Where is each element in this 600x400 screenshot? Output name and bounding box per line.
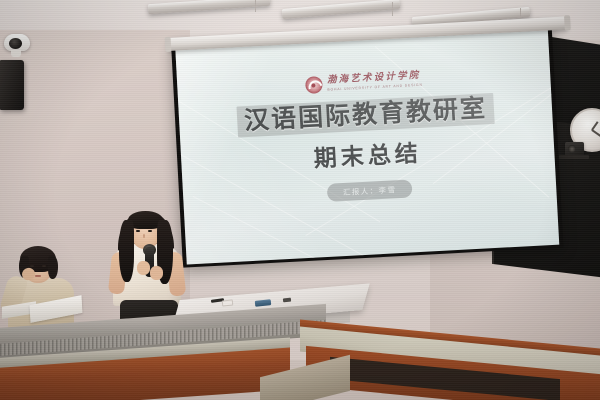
small-gray-object bbox=[283, 298, 291, 303]
wall-mounted-camera bbox=[565, 142, 584, 156]
institution-logo: 渤海艺术设计学院 BOHAI UNIVERSITY OF ART AND DES… bbox=[305, 71, 423, 94]
logo-text: 渤海艺术设计学院 BOHAI UNIVERSITY OF ART AND DES… bbox=[327, 72, 423, 92]
presenter-hand-left bbox=[137, 261, 150, 275]
presenter-eye-right bbox=[148, 230, 152, 232]
attendee-hair-right bbox=[48, 256, 58, 279]
camera-mount bbox=[11, 50, 21, 57]
clock-minute-hand bbox=[592, 129, 600, 138]
white-marker bbox=[222, 299, 234, 306]
spiral-emblem-icon bbox=[305, 76, 323, 94]
light-rod bbox=[392, 2, 393, 16]
classroom-photo: 渤海艺术设计学院 BOHAI UNIVERSITY OF ART AND DES… bbox=[0, 0, 600, 400]
attendee-mouth bbox=[35, 275, 41, 277]
light-rod bbox=[255, 0, 256, 12]
screen-surface: 渤海艺术设计学院 BOHAI UNIVERSITY OF ART AND DES… bbox=[175, 27, 559, 265]
wall-speaker bbox=[0, 60, 24, 110]
slide-content: 渤海艺术设计学院 BOHAI UNIVERSITY OF ART AND DES… bbox=[175, 27, 559, 265]
slide-title-sub: 期末总结 bbox=[313, 134, 423, 174]
projector-screen: 渤海艺术设计学院 BOHAI UNIVERSITY OF ART AND DES… bbox=[171, 23, 563, 268]
screen-endcap-left bbox=[165, 37, 172, 52]
wall-device-bracket bbox=[559, 155, 589, 159]
camera-lens-icon bbox=[9, 38, 22, 49]
presenter-eye-left bbox=[136, 230, 140, 232]
presenter-hair-left bbox=[119, 220, 134, 282]
attendee-eye-right bbox=[42, 265, 46, 267]
presenter-hand-right bbox=[150, 266, 163, 280]
presenter-badge: 汇报人：李雪 bbox=[327, 180, 413, 203]
screen-endcap-right bbox=[564, 15, 571, 30]
slide-title-main: 汉语国际教育教研室 bbox=[244, 95, 488, 134]
presenter-nose bbox=[143, 234, 145, 238]
attendee-eye-left bbox=[30, 265, 34, 267]
slide-title-band: 汉语国际教育教研室 bbox=[236, 93, 494, 138]
